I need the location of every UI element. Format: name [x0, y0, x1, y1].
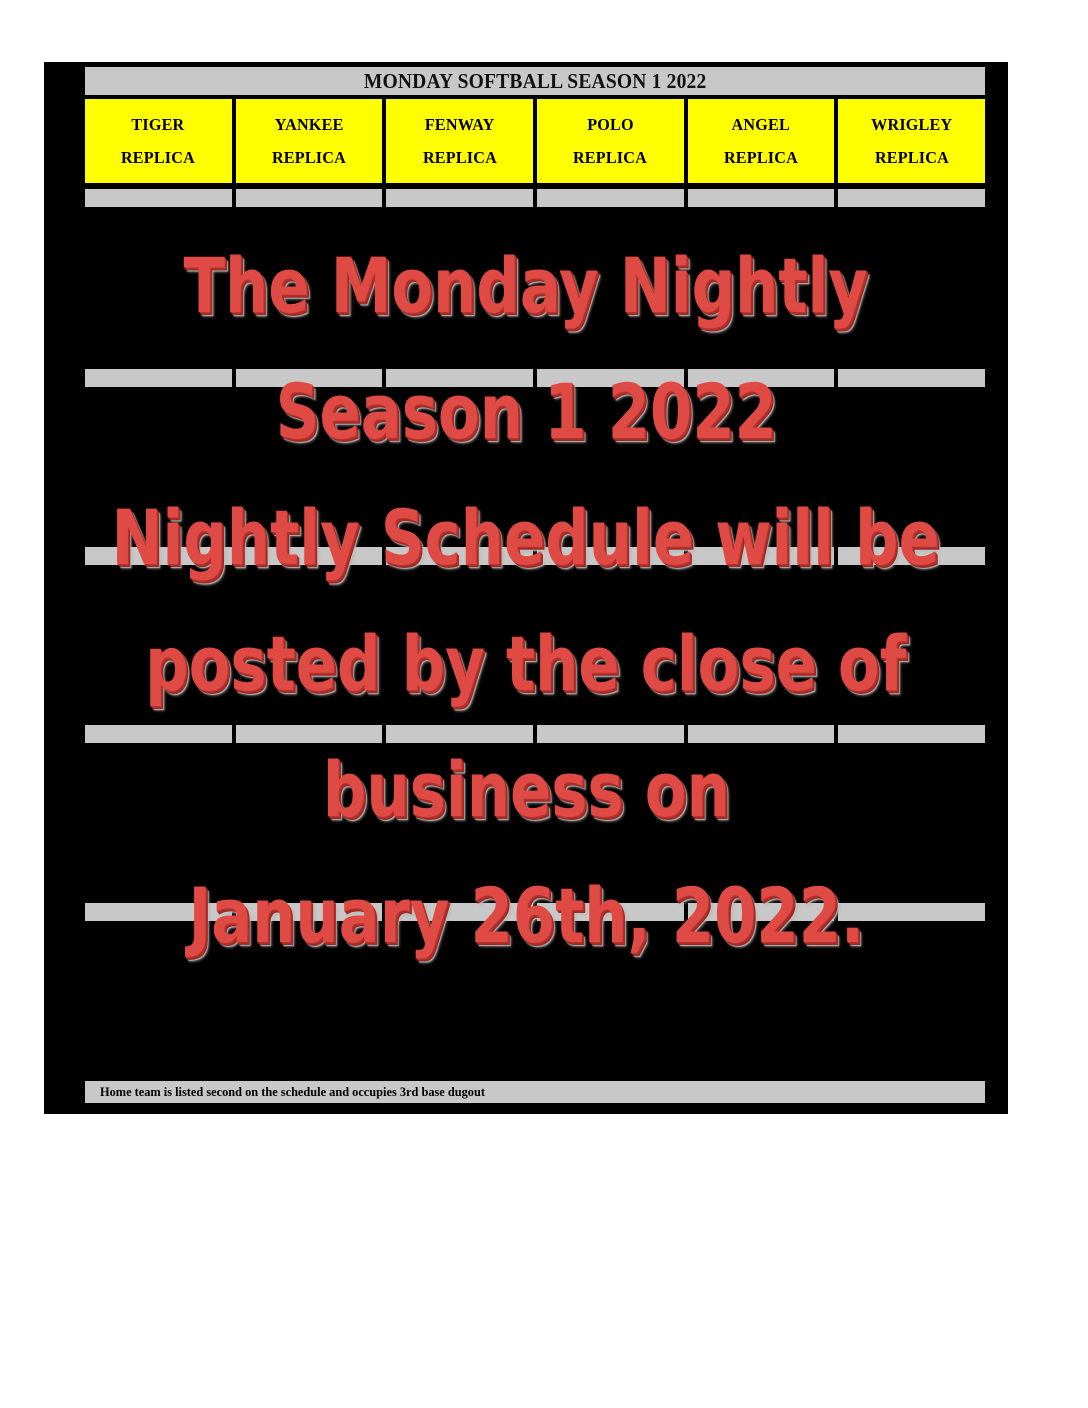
schedule-cell[interactable]	[385, 546, 534, 566]
schedule-cell[interactable]	[235, 902, 384, 922]
schedule-cell[interactable]	[687, 546, 836, 566]
team-cell-angel[interactable]: ANGEL REPLICA	[687, 98, 836, 184]
schedule-cell[interactable]	[235, 546, 384, 566]
schedule-cell[interactable]	[687, 724, 836, 744]
schedule-cell[interactable]	[385, 368, 534, 388]
team-name: FENWAY	[425, 115, 495, 135]
schedule-cell[interactable]	[84, 368, 233, 388]
schedule-cell[interactable]	[84, 724, 233, 744]
schedule-cell[interactable]	[687, 902, 836, 922]
schedule-cell[interactable]	[235, 188, 384, 208]
schedule-band-row-1	[84, 188, 986, 208]
schedule-cell[interactable]	[385, 724, 534, 744]
schedule-cell[interactable]	[536, 724, 685, 744]
team-suffix: REPLICA	[724, 148, 798, 168]
schedule-cell[interactable]	[235, 368, 384, 388]
schedule-band-row-5	[84, 902, 986, 922]
team-cell-tiger[interactable]: TIGER REPLICA	[84, 98, 233, 184]
schedule-cell[interactable]	[837, 368, 986, 388]
schedule-band-row-2	[84, 368, 986, 388]
schedule-cell[interactable]	[837, 546, 986, 566]
footer-note-text: Home team is listed second on the schedu…	[95, 1084, 485, 1100]
team-header-row: TIGER REPLICA YANKEE REPLICA FENWAY REPL…	[84, 98, 986, 184]
team-suffix: REPLICA	[121, 148, 195, 168]
team-name: TIGER	[132, 115, 185, 135]
schedule-cell[interactable]	[687, 368, 836, 388]
team-suffix: REPLICA	[875, 148, 949, 168]
schedule-cell[interactable]	[837, 188, 986, 208]
team-suffix: REPLICA	[272, 148, 346, 168]
schedule-cell[interactable]	[84, 902, 233, 922]
schedule-cell[interactable]	[385, 902, 534, 922]
team-cell-yankee[interactable]: YANKEE REPLICA	[235, 98, 384, 184]
schedule-cell[interactable]	[837, 902, 986, 922]
poster-panel: MONDAY SOFTBALL SEASON 1 2022 TIGER REPL…	[44, 62, 1008, 1114]
schedule-cell[interactable]	[84, 546, 233, 566]
schedule-cell[interactable]	[84, 188, 233, 208]
team-suffix: REPLICA	[573, 148, 647, 168]
schedule-cell[interactable]	[687, 188, 836, 208]
team-cell-wrigley[interactable]: WRIGLEY REPLICA	[837, 98, 986, 184]
team-name: ANGEL	[732, 115, 790, 135]
schedule-cell[interactable]	[536, 368, 685, 388]
team-name: YANKEE	[275, 115, 344, 135]
page-title: MONDAY SOFTBALL SEASON 1 2022	[364, 69, 707, 94]
schedule-cell[interactable]	[536, 546, 685, 566]
team-name: WRIGLEY	[871, 115, 952, 135]
schedule-cell[interactable]	[536, 188, 685, 208]
team-name: POLO	[587, 115, 634, 135]
team-cell-polo[interactable]: POLO REPLICA	[536, 98, 685, 184]
schedule-cell[interactable]	[235, 724, 384, 744]
footer-note-bar: Home team is listed second on the schedu…	[84, 1080, 986, 1104]
team-suffix: REPLICA	[423, 148, 497, 168]
schedule-cell[interactable]	[385, 188, 534, 208]
schedule-cell[interactable]	[837, 724, 986, 744]
schedule-band-row-3	[84, 546, 986, 566]
schedule-cell[interactable]	[536, 902, 685, 922]
team-cell-fenway[interactable]: FENWAY REPLICA	[385, 98, 534, 184]
schedule-grid: MONDAY SOFTBALL SEASON 1 2022 TIGER REPL…	[84, 66, 986, 184]
schedule-band-row-4	[84, 724, 986, 744]
schedule-title-bar: MONDAY SOFTBALL SEASON 1 2022	[84, 66, 986, 96]
